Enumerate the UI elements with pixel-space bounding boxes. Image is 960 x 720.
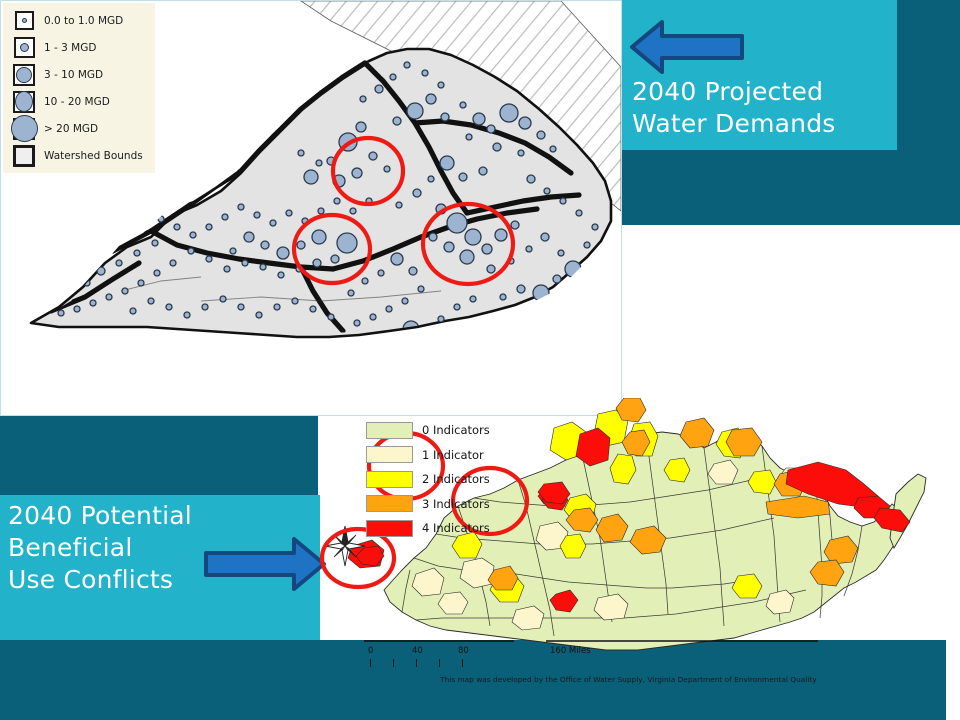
legend-row: 3 Indicators [366, 492, 526, 517]
indicator-legend: 0 Indicators 1 Indicator 2 Indicators 3 … [366, 418, 526, 541]
legend-swatch-0-indicators [366, 422, 413, 439]
legend-label: 3 - 10 MGD [39, 69, 103, 81]
legend-swatch-4-indicators [366, 520, 413, 537]
scale-bar-ticks [368, 659, 598, 668]
scale-unit-label: 160 Miles [550, 646, 591, 656]
page-title-projected-demands: 2040 Projected Water Demands [632, 76, 836, 140]
scale-label: 40 [412, 646, 423, 656]
legend-swatch-1-indicator [366, 446, 413, 463]
legend-symbol-dot [9, 37, 39, 58]
legend-label: 3 Indicators [413, 497, 490, 511]
legend-symbol-watershed-bounds [9, 145, 39, 167]
legend-row: 0.0 to 1.0 MGD [9, 7, 155, 34]
legend-label: 1 Indicator [413, 448, 484, 462]
scale-label: 80 [458, 646, 469, 656]
legend-symbol-dot [9, 118, 39, 140]
legend-swatch-3-indicators [366, 495, 413, 512]
legend-row: 3 - 10 MGD [9, 61, 155, 88]
page-title-use-conflicts: 2040 Potential Beneficial Use Conflicts [8, 500, 192, 596]
legend-row: 1 Indicator [366, 443, 526, 468]
mgd-legend: 0.0 to 1.0 MGD 1 - 3 MGD 3 - 10 MGD [3, 3, 155, 173]
legend-label: 10 - 20 MGD [39, 96, 110, 108]
legend-row: 10 - 20 MGD [9, 88, 155, 115]
legend-label: 0.0 to 1.0 MGD [39, 15, 123, 27]
legend-label: Watershed Bounds [39, 150, 143, 162]
legend-symbol-small-dot [9, 11, 39, 30]
map-credit-text: This map was developed by the Office of … [440, 675, 817, 684]
arrow-right-icon [200, 533, 328, 595]
legend-row: 4 Indicators [366, 516, 526, 541]
legend-label: 4 Indicators [413, 521, 490, 535]
legend-row: 0 Indicators [366, 418, 526, 443]
projected-water-demands-map[interactable]: 0.0 to 1.0 MGD 1 - 3 MGD 3 - 10 MGD [0, 0, 622, 416]
scale-bar-numbers: 0 40 80 160 Miles [368, 646, 598, 659]
scale-label: 0 [368, 646, 373, 656]
arrow-left-icon [628, 16, 746, 78]
legend-label: 0 Indicators [413, 423, 490, 437]
legend-label: > 20 MGD [39, 123, 98, 135]
legend-symbol-dot [9, 64, 39, 86]
slide-canvas: 2040 Projected Water Demands 2040 Potent… [0, 0, 960, 720]
bottom-left-dark-panel [0, 415, 318, 497]
legend-label: 1 - 3 MGD [39, 42, 96, 54]
legend-row: > 20 MGD [9, 115, 155, 142]
legend-symbol-dot [9, 91, 39, 113]
legend-swatch-2-indicators [366, 471, 413, 488]
legend-row: Watershed Bounds [9, 142, 155, 169]
beneficial-use-conflicts-map[interactable]: 0 Indicators 1 Indicator 2 Indicators 3 … [318, 398, 960, 720]
legend-label: 2 Indicators [413, 472, 490, 486]
legend-row: 1 - 3 MGD [9, 34, 155, 61]
legend-row: 2 Indicators [366, 467, 526, 492]
scale-bar: 0 40 80 160 Miles [368, 646, 598, 668]
